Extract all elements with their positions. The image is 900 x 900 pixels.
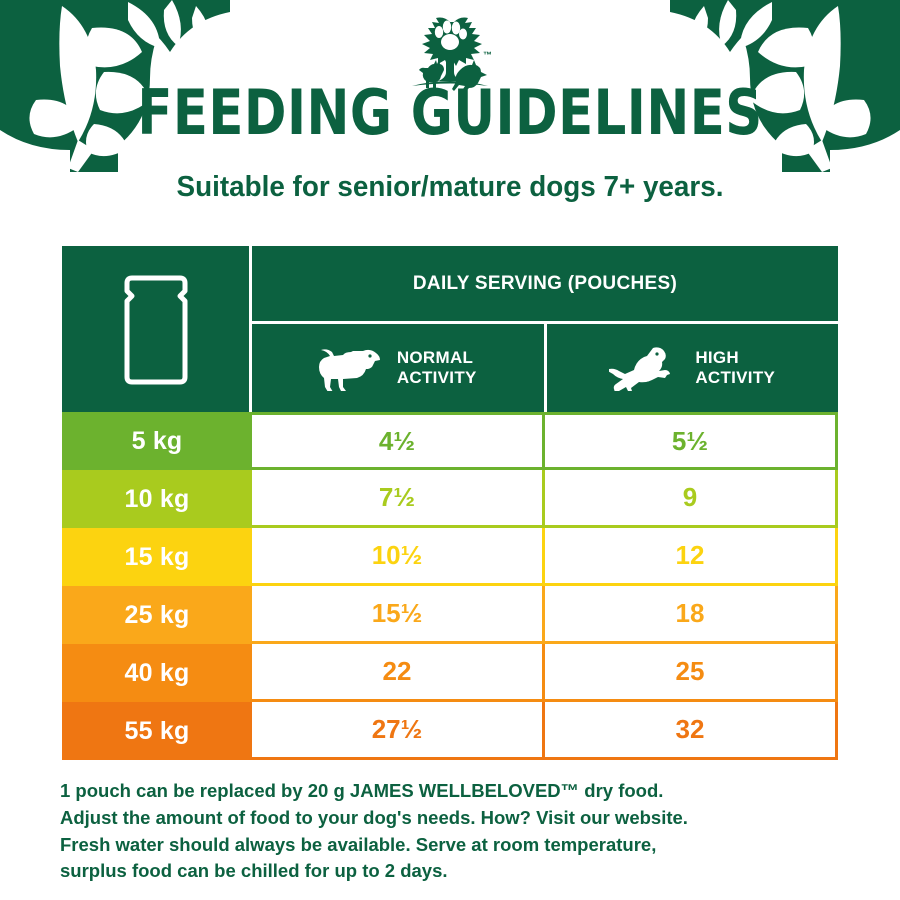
weight-cell: 10 kg <box>62 470 252 528</box>
daily-serving-header: DAILY SERVING (POUCHES) <box>252 246 838 324</box>
footer-line: surplus food can be chilled for up to 2 … <box>60 858 850 885</box>
normal-activity-label: NORMAL ACTIVITY <box>397 348 477 387</box>
feeding-guidelines-page: ™ FEEDING GUIDELINES Suitable for senior… <box>0 0 900 900</box>
normal-serving-cell: 15½ <box>252 586 545 641</box>
footer-notes: 1 pouch can be replaced by 20 g JAMES WE… <box>60 778 850 885</box>
footer-line: Adjust the amount of food to your dog's … <box>60 805 850 832</box>
table-row: 55 kg 27½ 32 <box>62 702 838 760</box>
serving-cells: 4½ 5½ <box>252 412 838 470</box>
serving-header-group: DAILY SERVING (POUCHES) NORMAL ACTIVITY <box>252 246 838 412</box>
serving-cells: 15½ 18 <box>252 586 838 644</box>
weight-cell: 25 kg <box>62 586 252 644</box>
table-row: 25 kg 15½ 18 <box>62 586 838 644</box>
high-serving-cell: 25 <box>545 644 835 699</box>
serving-cells: 10½ 12 <box>252 528 838 586</box>
serving-cells: 22 25 <box>252 644 838 702</box>
table-header: DAILY SERVING (POUCHES) NORMAL ACTIVITY <box>62 246 838 412</box>
footer-line: Fresh water should always be available. … <box>60 832 850 859</box>
weight-cell: 55 kg <box>62 702 252 760</box>
weight-cell: 40 kg <box>62 644 252 702</box>
high-serving-cell: 9 <box>545 470 835 525</box>
food-pouch-icon <box>117 273 195 385</box>
table-row: 5 kg 4½ 5½ <box>62 412 838 470</box>
normal-serving-cell: 22 <box>252 644 545 699</box>
activity-headers: NORMAL ACTIVITY HIGH ACTIVITY <box>252 324 838 412</box>
table-row: 10 kg 7½ 9 <box>62 470 838 528</box>
normal-activity-header: NORMAL ACTIVITY <box>252 324 547 412</box>
pouch-header-cell <box>62 246 252 412</box>
serving-cells: 27½ 32 <box>252 702 838 760</box>
feeding-table: DAILY SERVING (POUCHES) NORMAL ACTIVITY <box>62 246 838 760</box>
table-body: 5 kg 4½ 5½ 10 kg 7½ 9 15 kg 10½ 12 <box>62 412 838 760</box>
high-serving-cell: 5½ <box>545 415 835 467</box>
normal-serving-cell: 27½ <box>252 702 545 757</box>
dog-jumping-icon <box>609 345 681 391</box>
svg-text:™: ™ <box>483 50 492 60</box>
high-serving-cell: 18 <box>545 586 835 641</box>
weight-cell: 15 kg <box>62 528 252 586</box>
page-title: FEEDING GUIDELINES <box>36 82 864 144</box>
high-activity-header: HIGH ACTIVITY <box>547 324 839 412</box>
normal-serving-cell: 7½ <box>252 470 545 525</box>
page-subtitle: Suitable for senior/mature dogs 7+ years… <box>18 172 882 204</box>
serving-cells: 7½ 9 <box>252 470 838 528</box>
high-activity-label: HIGH ACTIVITY <box>695 348 775 387</box>
normal-serving-cell: 4½ <box>252 415 545 467</box>
normal-serving-cell: 10½ <box>252 528 545 583</box>
table-row: 40 kg 22 25 <box>62 644 838 702</box>
high-serving-cell: 12 <box>545 528 835 583</box>
dog-standing-icon <box>319 345 383 391</box>
weight-cell: 5 kg <box>62 412 252 470</box>
high-serving-cell: 32 <box>545 702 835 757</box>
table-row: 15 kg 10½ 12 <box>62 528 838 586</box>
footer-line: 1 pouch can be replaced by 20 g JAMES WE… <box>60 778 850 805</box>
